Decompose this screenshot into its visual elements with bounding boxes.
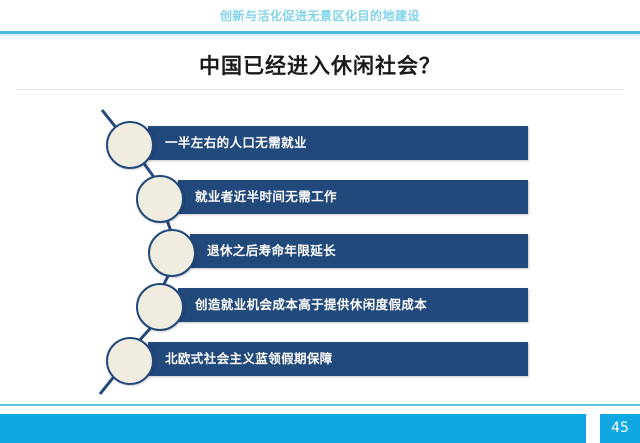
chain-diagram: 一半左右的人口无需就业 就业者近半时间无需工作 退休之后寿命年限延长 创造就业机… <box>0 0 640 443</box>
footer-divider-line <box>0 404 640 406</box>
list-item-label: 一半左右的人口无需就业 <box>165 126 307 160</box>
list-item-label: 创造就业机会成本高于提供休闲度假成本 <box>195 288 427 322</box>
list-item[interactable]: 就业者近半时间无需工作 <box>0 180 640 214</box>
list-item[interactable]: 创造就业机会成本高于提供休闲度假成本 <box>0 288 640 322</box>
page-number-badge: 45 <box>600 414 640 443</box>
list-item-label: 退休之后寿命年限延长 <box>207 234 336 268</box>
list-item-node-circle[interactable] <box>136 175 184 223</box>
list-item-label: 北欧式社会主义蓝领假期保障 <box>165 342 333 376</box>
list-item-node-circle[interactable] <box>106 337 154 385</box>
list-item-node-circle[interactable] <box>136 283 184 331</box>
list-item-node-circle[interactable] <box>106 121 154 169</box>
list-item-node-circle[interactable] <box>148 229 196 277</box>
list-item[interactable]: 北欧式社会主义蓝领假期保障 <box>0 342 640 376</box>
footer-bar <box>0 414 586 443</box>
list-item[interactable]: 一半左右的人口无需就业 <box>0 126 640 160</box>
page-number-text: 45 <box>600 414 640 443</box>
list-item-label: 就业者近半时间无需工作 <box>195 180 337 214</box>
slide-root: 创新与活化促进无景区化目的地建设 中国已经进入休闲社会？ 一半左右的人口无需就业 <box>0 0 640 443</box>
chain-connector-svg <box>0 0 640 443</box>
list-item[interactable]: 退休之后寿命年限延长 <box>0 234 640 268</box>
